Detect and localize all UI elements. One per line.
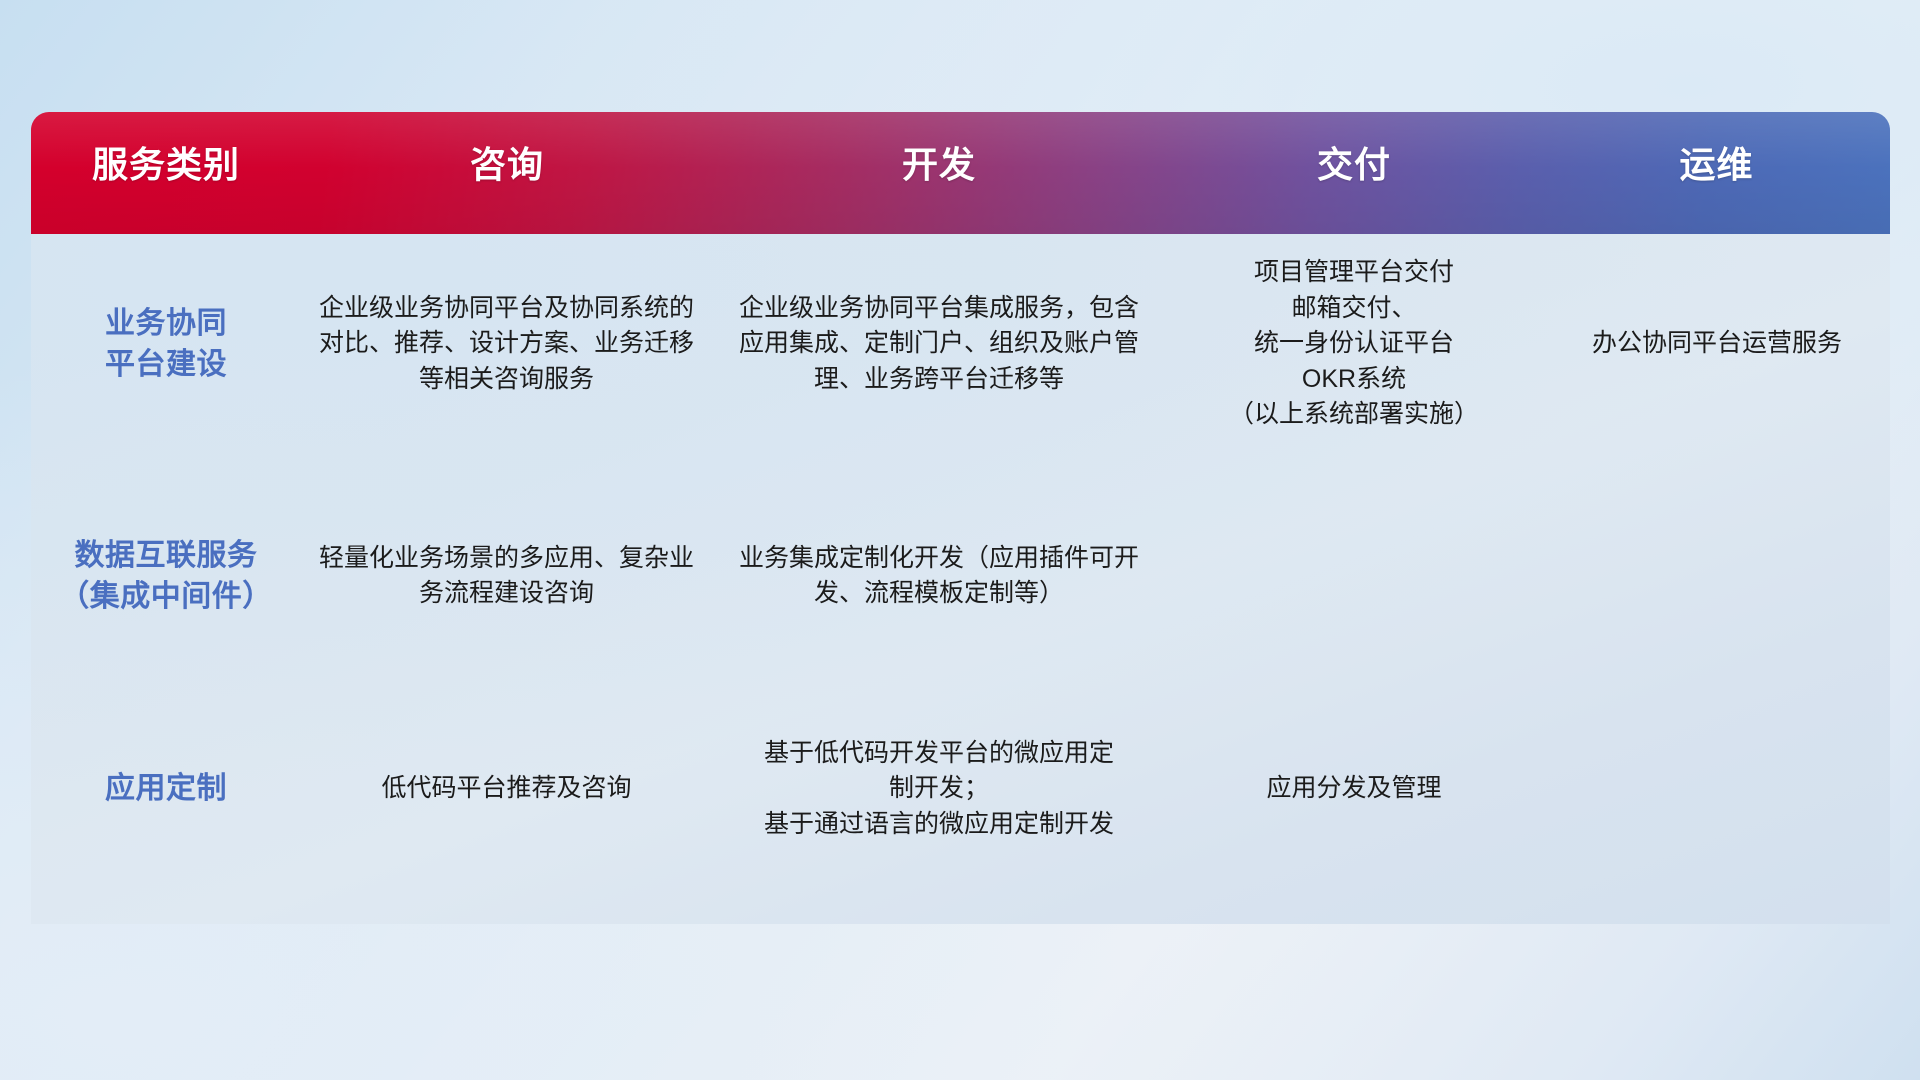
cell-delivery: 项目管理平台交付 邮箱交付、 统一身份认证平台 OKR系统 （以上系统部署实施） bbox=[1165, 212, 1543, 477]
cell-operations bbox=[1543, 675, 1890, 902]
header-label-operations: 运维 bbox=[1543, 136, 1890, 188]
delivery-line: 邮箱交付、 bbox=[1180, 291, 1528, 327]
header-cell-development: 开发 bbox=[713, 112, 1165, 212]
service-matrix-table: 服务类别 咨询 开发 交付 运维 bbox=[31, 112, 1890, 952]
table-body: 业务协同 平台建设 企业级业务协同平台及协同系统的对比、推荐、设计方案、业务迁移… bbox=[31, 212, 1890, 902]
header-cell-consulting: 咨询 bbox=[301, 112, 713, 212]
service-table: 服务类别 咨询 开发 交付 运维 bbox=[31, 112, 1890, 902]
delivery-line: 统一身份认证平台 bbox=[1180, 326, 1528, 362]
cell-development: 基于低代码开发平台的微应用定 制开发； 基于通过语言的微应用定制开发 bbox=[713, 675, 1165, 902]
table-row: 应用定制 低代码平台推荐及咨询 基于低代码开发平台的微应用定 制开发； 基于通过… bbox=[31, 675, 1890, 902]
header-label-delivery: 交付 bbox=[1165, 136, 1543, 188]
category-line: 数据互联服务 bbox=[45, 535, 287, 576]
category-line: 业务协同 bbox=[45, 303, 287, 344]
cell-operations bbox=[1543, 477, 1890, 675]
delivery-line: 项目管理平台交付 bbox=[1180, 255, 1528, 291]
delivery-line: OKR系统 bbox=[1180, 362, 1528, 398]
header-cell-category: 服务类别 bbox=[31, 112, 301, 212]
row-category-label: 业务协同 平台建设 bbox=[31, 212, 301, 477]
cell-delivery: 应用分发及管理 bbox=[1165, 675, 1543, 902]
development-line: 基于低代码开发平台的微应用定 bbox=[728, 736, 1150, 772]
development-line: 基于通过语言的微应用定制开发 bbox=[728, 807, 1150, 843]
row-category-label: 应用定制 bbox=[31, 675, 301, 902]
header-cell-operations: 运维 bbox=[1543, 112, 1890, 212]
development-line: 制开发； bbox=[728, 771, 1150, 807]
cell-development: 业务集成定制化开发（应用插件可开发、流程模板定制等） bbox=[713, 477, 1165, 675]
cell-consulting: 低代码平台推荐及咨询 bbox=[301, 675, 713, 902]
cell-operations: 办公协同平台运营服务 bbox=[1543, 212, 1890, 477]
category-line: 应用定制 bbox=[45, 768, 287, 809]
table-row: 业务协同 平台建设 企业级业务协同平台及协同系统的对比、推荐、设计方案、业务迁移… bbox=[31, 212, 1890, 477]
cell-consulting: 企业级业务协同平台及协同系统的对比、推荐、设计方案、业务迁移等相关咨询服务 bbox=[301, 212, 713, 477]
header-cell-delivery: 交付 bbox=[1165, 112, 1543, 212]
cell-consulting: 轻量化业务场景的多应用、复杂业务流程建设咨询 bbox=[301, 477, 713, 675]
header-label-development: 开发 bbox=[713, 136, 1165, 188]
header-row: 服务类别 咨询 开发 交付 运维 bbox=[31, 112, 1890, 212]
category-line: （集成中间件） bbox=[45, 576, 287, 617]
cell-delivery bbox=[1165, 477, 1543, 675]
header-label-consulting: 咨询 bbox=[301, 136, 713, 188]
category-line: 平台建设 bbox=[45, 344, 287, 385]
row-category-label: 数据互联服务 （集成中间件） bbox=[31, 477, 301, 675]
table-row: 数据互联服务 （集成中间件） 轻量化业务场景的多应用、复杂业务流程建设咨询 业务… bbox=[31, 477, 1890, 675]
table-header: 服务类别 咨询 开发 交付 运维 bbox=[31, 112, 1890, 212]
delivery-line: （以上系统部署实施） bbox=[1180, 397, 1528, 433]
cell-development: 企业级业务协同平台集成服务，包含应用集成、定制门户、组织及账户管理、业务跨平台迁… bbox=[713, 212, 1165, 477]
header-label-category: 服务类别 bbox=[31, 136, 301, 188]
slide-canvas: 服务类别 咨询 开发 交付 运维 bbox=[0, 0, 1920, 1080]
